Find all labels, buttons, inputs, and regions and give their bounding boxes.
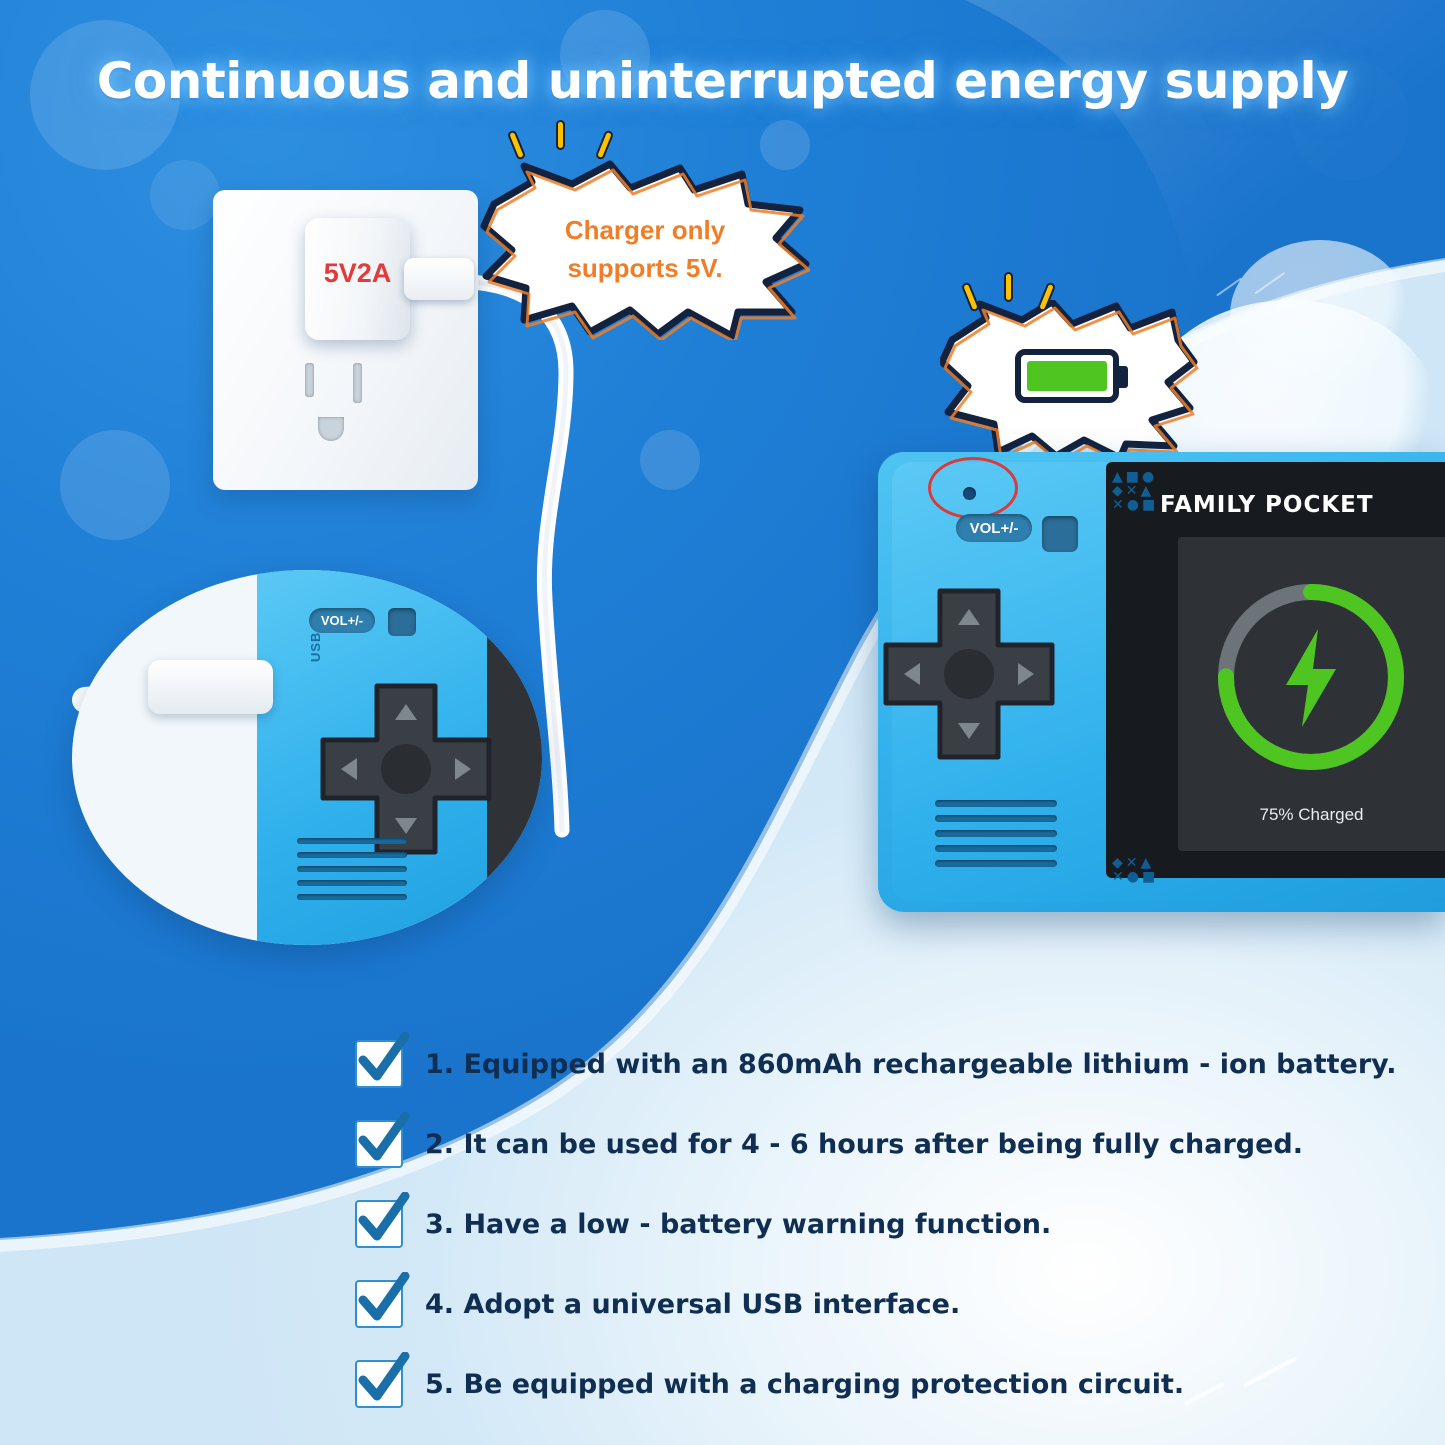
spark-decor: [1004, 272, 1013, 302]
list-item: 2. It can be used for 4 - 6 hours after …: [355, 1120, 1425, 1168]
feature-list: 1. Equipped with an 860mAh rechargeable …: [355, 1040, 1425, 1440]
list-item: 4. Adopt a universal USB interface.: [355, 1280, 1425, 1328]
list-item-label: 3. Have a low - battery warning function…: [425, 1209, 1051, 1240]
dpad-icon[interactable]: [880, 585, 1058, 763]
list-item-label: 2. It can be used for 4 - 6 hours after …: [425, 1129, 1303, 1160]
closeup-port-label: USB: [308, 632, 323, 662]
charge-status-label: 75% Charged: [1178, 805, 1445, 825]
console-brand-label: FAMILY POCKET: [1160, 492, 1374, 518]
checkbox-checked-icon[interactable]: [355, 1040, 403, 1088]
charger-callout: Charger only supports 5V.: [480, 160, 810, 340]
poster-canvas: Continuous and uninterrupted energy supp…: [0, 0, 1445, 1445]
charging-led-icon: [963, 487, 976, 500]
volume-label: VOL+/-: [956, 514, 1032, 542]
spark-decor: [556, 120, 565, 150]
cable-closeup-magnifier: VOL+/- USB: [72, 570, 542, 945]
list-item-label: 1. Equipped with an 860mAh rechargeable …: [425, 1049, 1397, 1080]
list-item: 3. Have a low - battery warning function…: [355, 1200, 1425, 1248]
list-item-label: 5. Be equipped with a charging protectio…: [425, 1369, 1184, 1400]
closeup-volume-label: VOL+/-: [309, 608, 375, 633]
list-item-label: 4. Adopt a universal USB interface.: [425, 1289, 960, 1320]
charger-callout-line1: Charger only: [565, 212, 725, 250]
checkbox-checked-icon[interactable]: [355, 1120, 403, 1168]
checkbox-checked-icon[interactable]: [355, 1200, 403, 1248]
battery-callout: [940, 300, 1200, 460]
burst-shape: [940, 300, 1200, 460]
list-item: 5. Be equipped with a charging protectio…: [355, 1360, 1425, 1408]
console-screen: [1178, 537, 1445, 851]
closeup-screen-edge: [487, 570, 542, 945]
console-decor-glyphs: ▲■●◆✕▲✕●■: [1112, 470, 1158, 512]
speaker-grille-icon: [935, 800, 1057, 870]
closeup-usb-plug-icon: [148, 660, 273, 714]
bubble-decor: [60, 430, 170, 540]
bubble-decor: [640, 430, 700, 490]
console-decor-glyphs: ◆✕▲✕●■: [1112, 856, 1158, 884]
usb-connector-icon: [404, 258, 474, 300]
charger-callout-line2: supports 5V.: [567, 250, 722, 288]
outlet-socket: [283, 355, 403, 470]
checkbox-checked-icon[interactable]: [355, 1280, 403, 1328]
checkbox-checked-icon[interactable]: [355, 1360, 403, 1408]
lightning-bolt-icon: [1286, 629, 1336, 727]
adapter-rating-label: 5V2A: [300, 258, 415, 289]
cloud-decor: [1230, 240, 1410, 390]
list-item: 1. Equipped with an 860mAh rechargeable …: [355, 1040, 1425, 1088]
charging-progress-ring: [1178, 537, 1445, 851]
function-button[interactable]: [1042, 516, 1078, 552]
closeup-function-button[interactable]: [388, 608, 416, 636]
closeup-dpad-icon[interactable]: [317, 680, 495, 858]
page-title: Continuous and uninterrupted energy supp…: [0, 52, 1445, 110]
closeup-speaker-grille-icon: [297, 838, 407, 900]
bubble-decor: [150, 160, 220, 230]
